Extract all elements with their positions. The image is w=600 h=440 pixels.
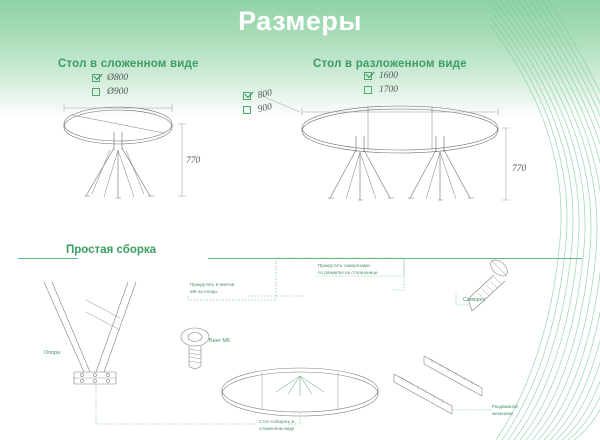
checkbox-unchecked-icon[interactable] — [243, 106, 251, 114]
drawing-unfolded-table — [302, 106, 498, 200]
checkbox-unchecked-icon[interactable] — [364, 86, 372, 94]
callout-mechanism: Раздвижной механизм — [492, 404, 518, 417]
option-length-1600[interactable]: 1600 — [364, 70, 398, 82]
option-folded-800[interactable]: Ø800 — [92, 72, 128, 84]
option-label: 1600 — [379, 71, 398, 81]
checkbox-checked-icon[interactable] — [243, 92, 251, 100]
callout-leader-lines — [96, 258, 492, 424]
folded-diameter-options: Ø800 Ø900 — [92, 72, 128, 100]
unfolded-length-options: 1600 1700 — [364, 70, 398, 98]
infographic-page: Размеры Стол в сложенном виде Ø800 Ø900 … — [0, 0, 600, 440]
drawing-folded-table — [64, 107, 172, 198]
option-label: 800 — [257, 88, 273, 101]
drawing-support-leg — [44, 282, 136, 384]
callout-bolts: Прикрутить 8 винтов М6 на опоры — [190, 282, 234, 295]
page-title: Размеры — [0, 6, 600, 37]
folded-height-dimension: 770 — [186, 156, 200, 166]
drawing-extension-rails — [394, 356, 482, 414]
drawing-tabletop-bottom — [222, 368, 378, 416]
checkbox-unchecked-icon[interactable] — [92, 88, 100, 96]
checkbox-checked-icon[interactable] — [364, 72, 372, 80]
option-depth-800[interactable]: 800 — [243, 90, 272, 102]
option-length-1700[interactable]: 1700 — [364, 84, 398, 96]
callout-fold-state: Стол собирать в сложенном виде — [259, 419, 294, 432]
checkbox-checked-icon[interactable] — [92, 74, 100, 82]
section-title-unfolded: Стол в разложенном виде — [313, 58, 467, 70]
callout-screw-name: Саморез — [463, 297, 485, 305]
section-title-assembly: Простая сборка — [66, 244, 156, 256]
callout-support-name: Опора — [44, 350, 60, 358]
option-label: 1700 — [379, 85, 398, 95]
section-title-folded: Стол в сложенном виде — [58, 58, 199, 70]
option-folded-900[interactable]: Ø900 — [92, 86, 128, 98]
option-depth-900[interactable]: 900 — [243, 104, 272, 116]
option-label: 900 — [257, 102, 273, 115]
option-label: Ø800 — [107, 73, 128, 83]
unfolded-depth-options: 800 900 — [243, 90, 272, 118]
callout-bolt-name: Винт М6 — [209, 338, 230, 346]
drawing-bolt-m6 — [181, 328, 209, 369]
unfolded-height-dimension: 770 — [512, 164, 526, 174]
dimension-line-unfolded-height — [502, 128, 510, 200]
dimension-line-folded-height — [178, 124, 186, 196]
callout-screws: Прикрутить саморезами по разметке на сто… — [318, 263, 377, 276]
option-label: Ø900 — [107, 87, 128, 97]
